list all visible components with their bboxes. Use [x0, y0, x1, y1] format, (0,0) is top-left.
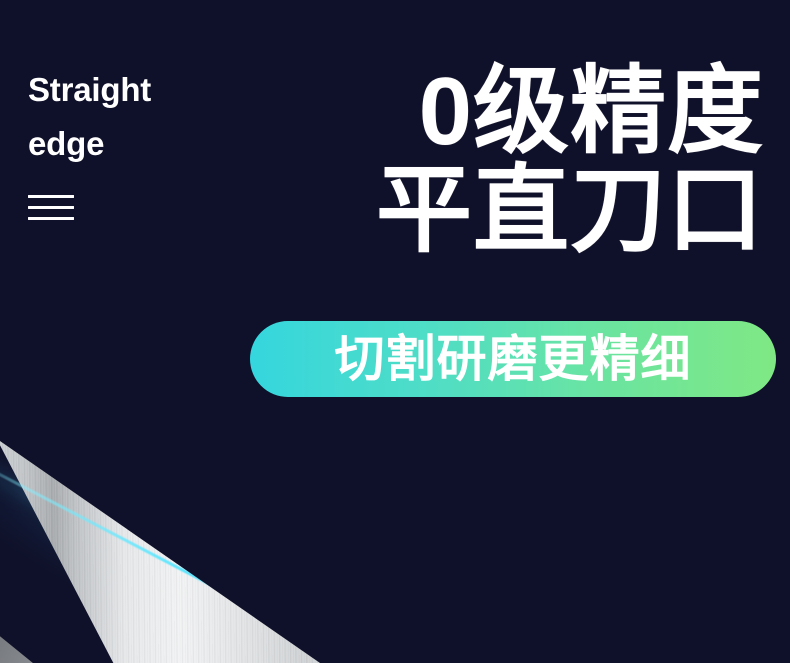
headline: 0级精度 平直刀口 [376, 62, 764, 260]
three-lines-icon-bar-1 [28, 195, 74, 198]
three-lines-icon-bar-3 [28, 217, 74, 220]
feature-pill: 切割研磨更精细 [250, 321, 776, 397]
headline-line-1: 0级精度 [376, 62, 764, 161]
product-banner: Straight edge 0级精度 平直刀口 切割研磨更精细 [0, 0, 790, 663]
blade-dark-facet [0, 612, 120, 663]
headline-line-2: 平直刀口 [376, 161, 764, 260]
three-lines-icon [28, 195, 74, 220]
three-lines-icon-bar-2 [28, 206, 74, 209]
brand-label-line1: Straight [28, 71, 151, 108]
feature-pill-label: 切割研磨更精细 [335, 334, 692, 384]
brand-label-line2: edge [28, 117, 151, 171]
brand-label: Straight edge [28, 63, 151, 171]
